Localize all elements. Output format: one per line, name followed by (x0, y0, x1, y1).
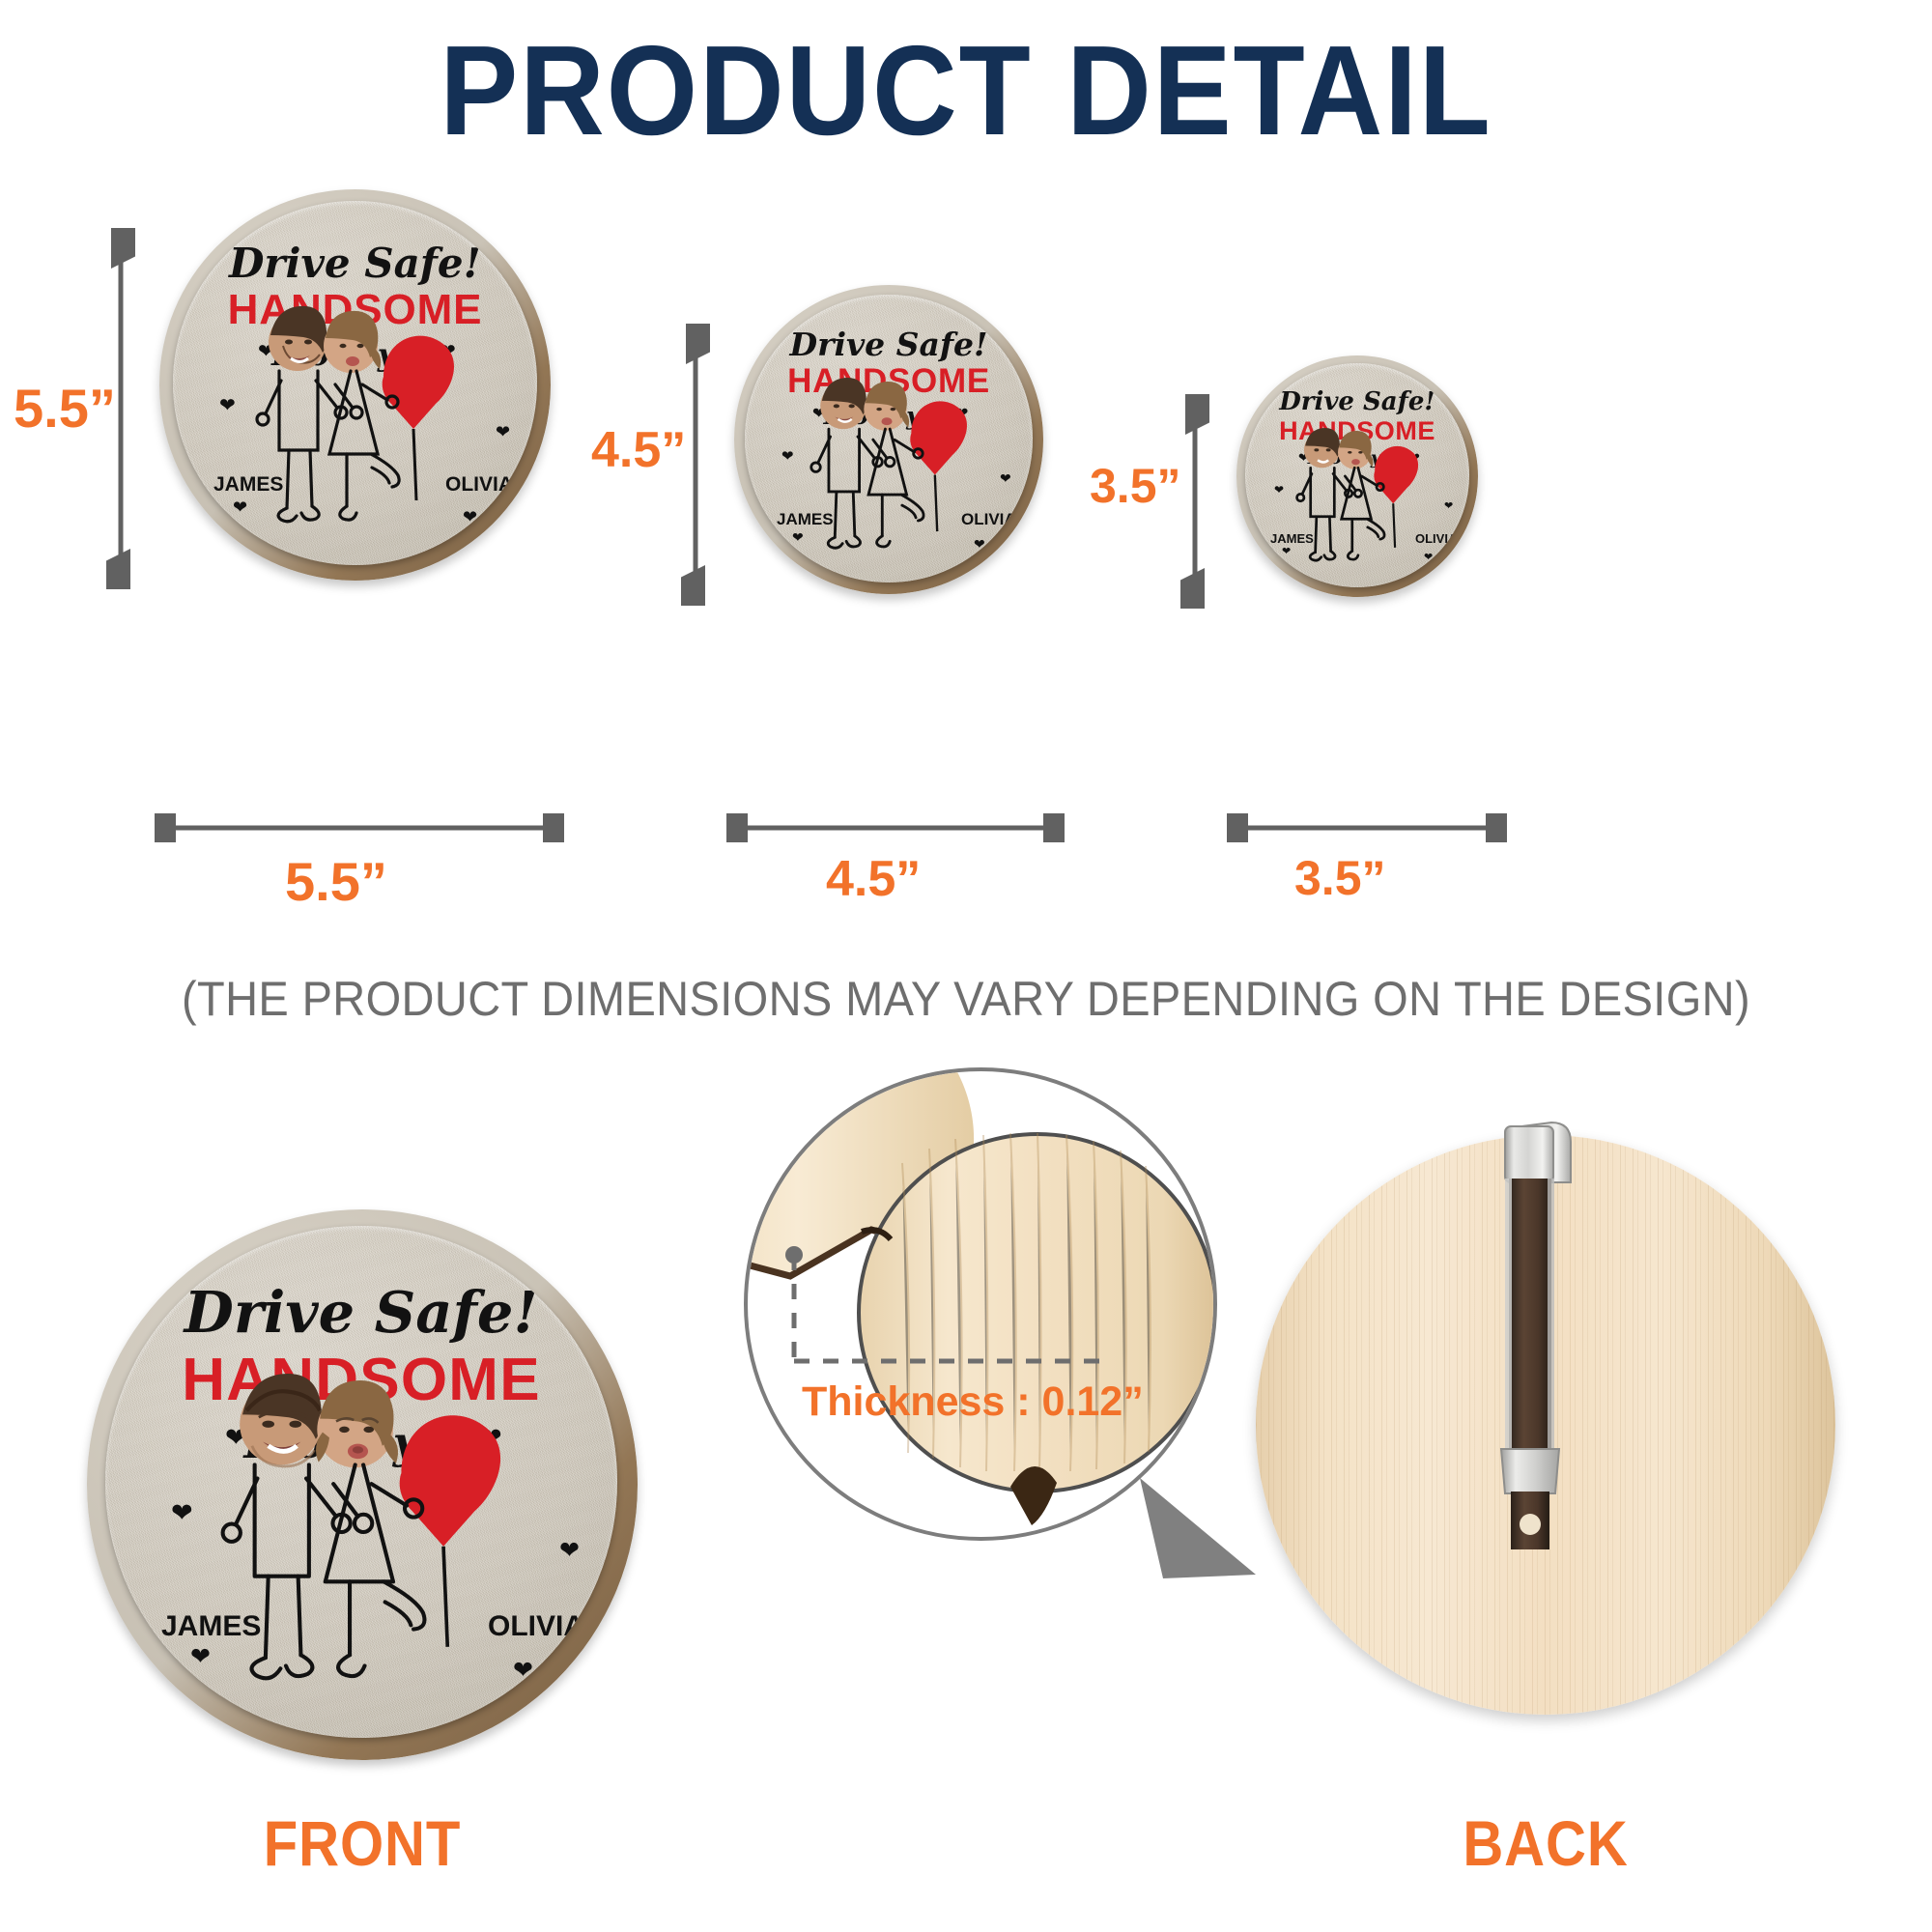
name-left-front: JAMES (161, 1610, 261, 1643)
dimension-label-width-medium: 4.5” (826, 850, 921, 908)
thickness-magnifier: Thickness : 0.12” (744, 1067, 1217, 1541)
product-disc-large: Drive Safe! HANDSOME I love you ❤ ❤ ❤ ❤ … (159, 189, 551, 581)
product-disc-front: Drive Safe! HANDSOME I love you ❤ ❤ ❤ ❤ … (87, 1209, 638, 1760)
dimension-label-height-large: 5.5” (14, 377, 116, 440)
dimension-arrow-width-small (1227, 813, 1507, 842)
dimension-arrow-width-large (155, 813, 564, 842)
name-left-large: JAMES (213, 473, 283, 497)
dimension-label-height-small: 3.5” (1090, 458, 1181, 514)
name-right-front: OLIVIA (488, 1610, 584, 1643)
thickness-label: Thickness : 0.12” (802, 1378, 1144, 1426)
dimension-arrow-height-small (1180, 394, 1209, 609)
dimension-arrow-width-medium (726, 813, 1065, 842)
couple-illustration-front (105, 1226, 617, 1738)
thickness-dimension-lines (748, 1071, 1217, 1541)
product-disc-small: Drive Safe! HANDSOME I love you ❤ ❤ ❤ ❤ … (1236, 355, 1478, 597)
couple-illustration-large (173, 201, 537, 565)
name-left-medium: JAMES (777, 510, 834, 529)
back-label: BACK (1397, 1806, 1694, 1880)
couple-illustration-medium (745, 295, 1033, 582)
name-right-small: OLIVIA (1415, 531, 1457, 546)
dimension-label-width-small: 3.5” (1294, 850, 1386, 906)
dimension-label-width-large: 5.5” (285, 850, 387, 913)
dimension-label-height-medium: 4.5” (591, 421, 686, 479)
product-disc-medium: Drive Safe! HANDSOME I love you ❤ ❤ ❤ ❤ … (734, 285, 1043, 594)
page-title: PRODUCT DETAIL (77, 27, 1855, 155)
front-label: FRONT (213, 1806, 511, 1880)
metal-hanger-clip (1488, 1109, 1633, 1573)
couple-illustration-small (1245, 363, 1469, 587)
dimensions-disclaimer: (THE PRODUCT DIMENSIONS MAY VARY DEPENDI… (58, 971, 1874, 1027)
name-right-medium: OLIVIA (961, 510, 1016, 529)
name-left-small: JAMES (1270, 531, 1314, 546)
name-right-large: OLIVIA (445, 473, 513, 497)
